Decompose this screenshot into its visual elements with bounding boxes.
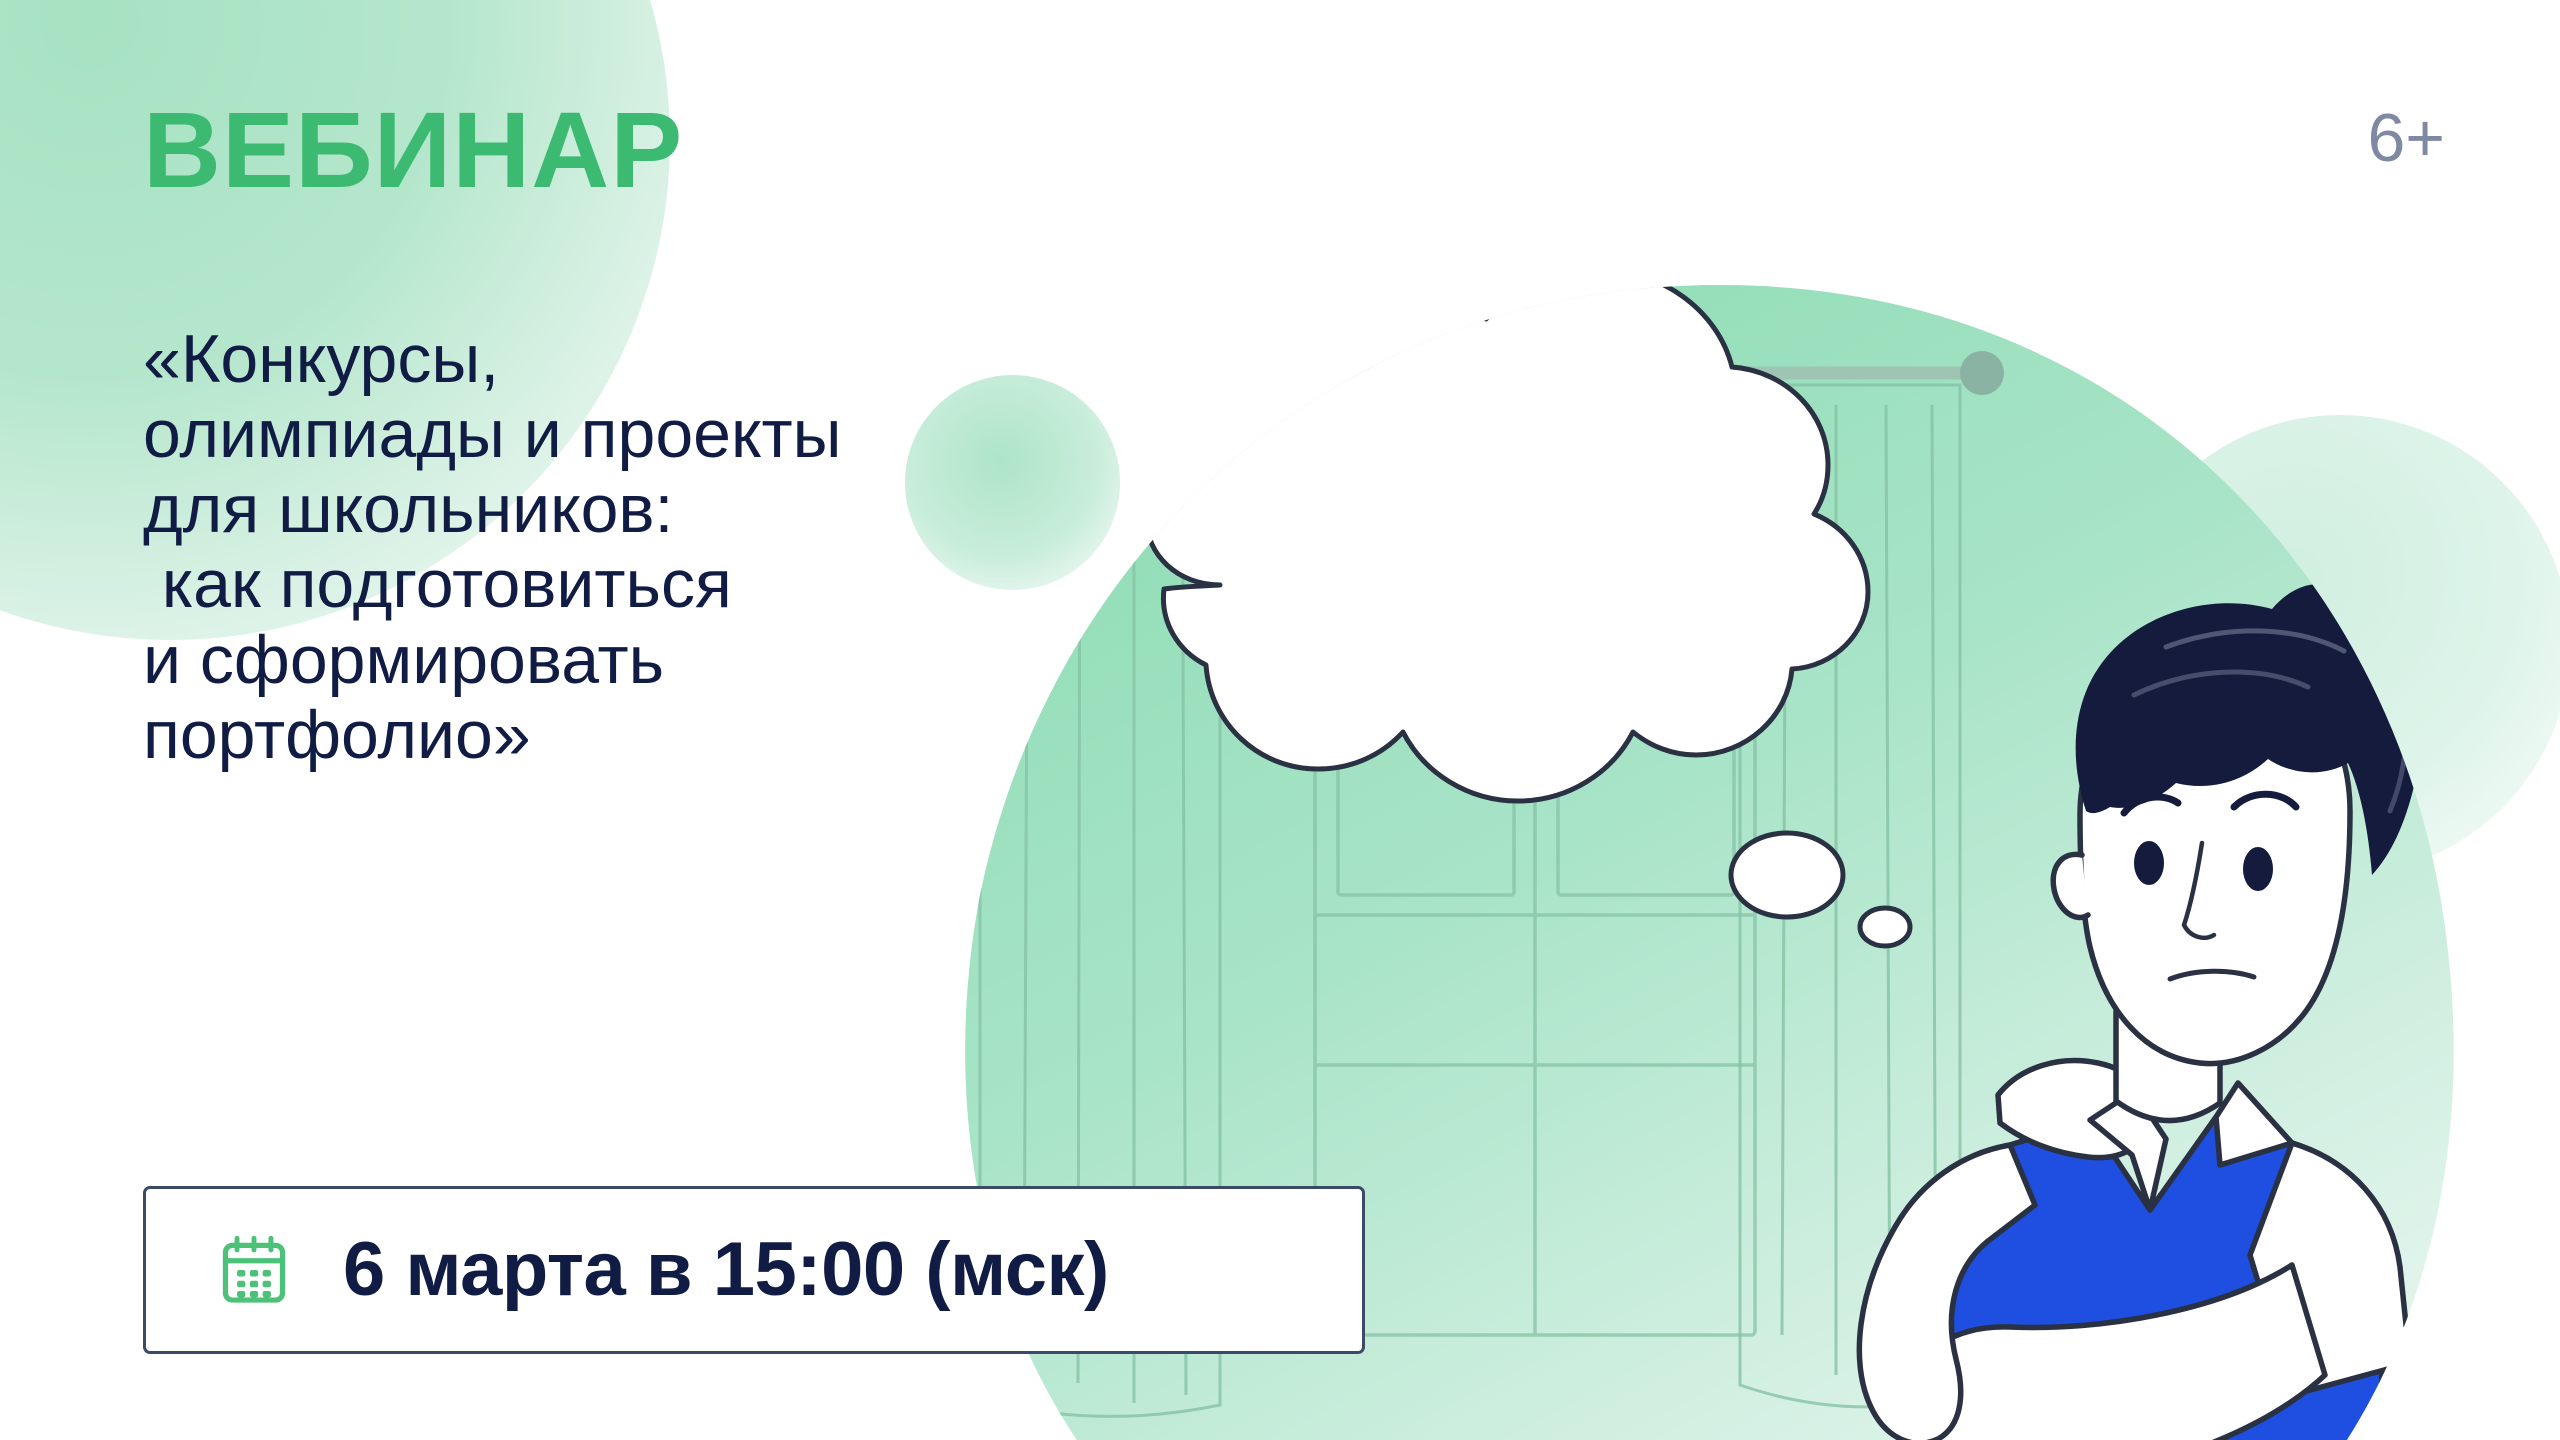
webinar-subtitle: «Конкурсы, олимпиады и проекты для школь… — [143, 322, 1263, 773]
boy-eye-right — [2243, 847, 2273, 891]
webinar-date-badge[interactable]: 6 марта в 15:00 (мск) — [143, 1186, 1365, 1354]
banner-canvas: ВЕБИНАР «Конкурсы, олимпиады и проекты д… — [0, 0, 2560, 1440]
thought-bubble-dot-large — [1731, 833, 1843, 917]
age-rating-badge: 6+ — [2367, 104, 2445, 172]
calendar-icon — [217, 1233, 291, 1307]
webinar-date-text: 6 марта в 15:00 (мск) — [343, 1232, 1109, 1308]
boy-eye-left — [2134, 841, 2164, 885]
page-title: ВЕБИНАР — [143, 96, 683, 204]
thought-bubble-dot-small — [1860, 908, 1910, 946]
